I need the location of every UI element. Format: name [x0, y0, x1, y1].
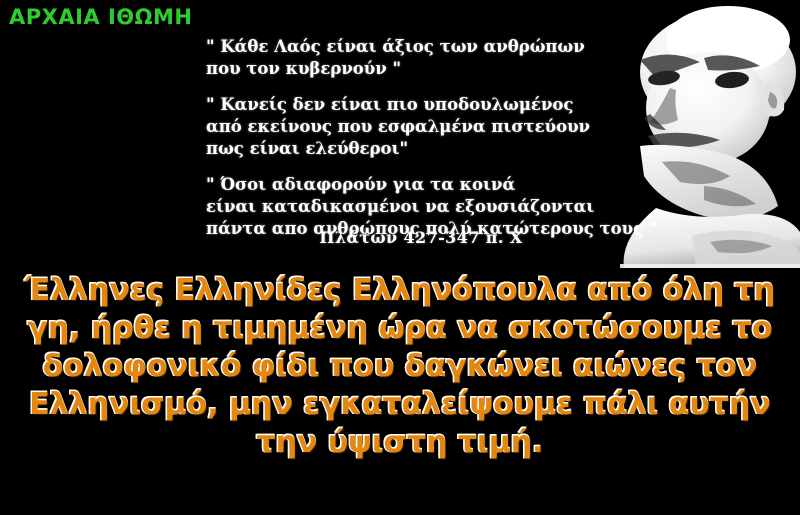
- quote-item: " Κάθε Λαός είναι άξιος των ανθρώπων που…: [206, 36, 646, 80]
- quote-attribution: Πλάτων 427-347 π. Χ: [206, 228, 636, 247]
- message-line: δολοφονικό φίδι που δαγκώνει αιώνες τον: [0, 348, 800, 386]
- quote-line: που τον κυβερνούν ": [206, 58, 646, 80]
- message-line: γη, ήρθε η τιμημένη ώρα να σκοτώσουμε το: [0, 310, 800, 348]
- quote-line: από εκείνους που εσφαλμένα πιστεύουν: [206, 116, 646, 138]
- page-title: ΑΡΧΑΙΑ ΙΘΩΜΗ: [9, 7, 192, 28]
- message-block: Έλληνες Ελληνίδες Ελληνόπουλα από όλη τη…: [0, 272, 800, 462]
- quote-line: " Κανείς δεν είναι πιο υποδουλωμένος: [206, 94, 646, 116]
- message-line: Έλληνες Ελληνίδες Ελληνόπουλα από όλη τη: [0, 272, 800, 310]
- message-line: την ύψιστη τιμή.: [0, 424, 800, 462]
- quote-line: πως είναι ελεύθεροι": [206, 138, 646, 160]
- quote-line: " Κάθε Λαός είναι άξιος των ανθρώπων: [206, 36, 646, 58]
- quote-image-panel: " Κάθε Λαός είναι άξιος των ανθρώπων που…: [0, 0, 800, 268]
- message-line: Ελληνισμό, μην εγκαταλείψουμε πάλι αυτήν: [0, 386, 800, 424]
- poster-canvas: ΑΡΧΑΙΑ ΙΘΩΜΗ: [0, 0, 800, 515]
- quote-line: είναι καταδικασμένοι να εξουσιάζονται: [206, 196, 646, 218]
- quote-list: " Κάθε Λαός είναι άξιος των ανθρώπων που…: [206, 36, 646, 254]
- quote-line: " Όσοι αδιαφορούν για τα κοινά: [206, 174, 646, 196]
- quote-item: " Κανείς δεν είναι πιο υποδουλωμένος από…: [206, 94, 646, 160]
